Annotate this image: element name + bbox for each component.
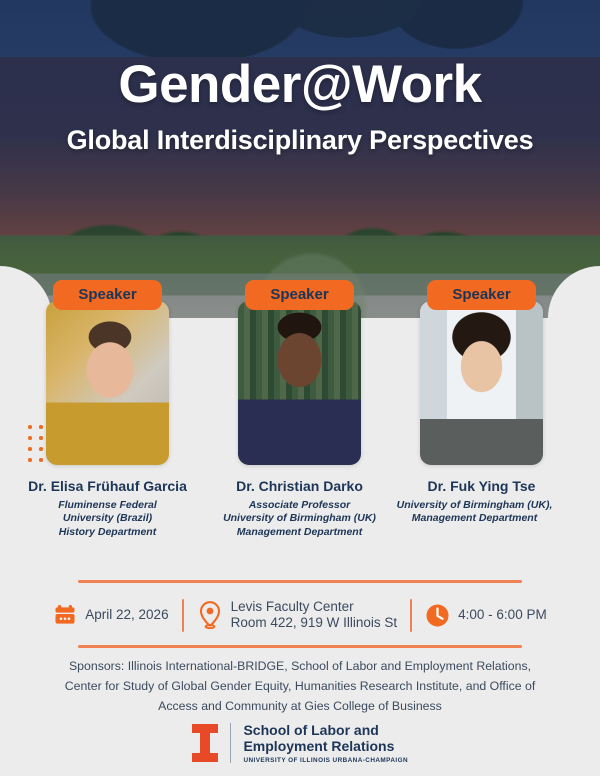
logo-line-1: School of Labor and — [243, 722, 408, 738]
speakers-section: Speaker Dr. Elisa Frühauf Garcia Flumine… — [0, 280, 600, 480]
clock-icon — [425, 603, 450, 628]
logo-line-3: UNIVERSITY OF ILLINOIS URBANA-CHAMPAIGN — [243, 757, 408, 764]
divider-rule-top — [78, 580, 522, 583]
calendar-icon — [53, 603, 77, 627]
page-subtitle: Global Interdisciplinary Perspectives — [0, 125, 600, 156]
speaker-card-2: Speaker Dr. Christian Darko Associate Pr… — [234, 280, 365, 539]
speaker-badge: Speaker — [427, 280, 536, 310]
logo-line-2: Employment Relations — [243, 738, 408, 754]
event-poster: Gender@Work Global Interdisciplinary Per… — [0, 0, 600, 776]
speaker-affiliation: Fluminense Federal University (Brazil) H… — [24, 499, 191, 539]
speaker-name: Dr. Christian Darko — [212, 478, 387, 494]
hero-banner: Gender@Work Global Interdisciplinary Per… — [0, 0, 600, 318]
event-time: 4:00 - 6:00 PM — [425, 603, 547, 628]
hero-overlay — [0, 0, 600, 318]
sponsors-text: Sponsors: Illinois International-BRIDGE,… — [50, 657, 550, 717]
event-details-bar: April 22, 2026 Levis Faculty Center Room… — [0, 592, 600, 638]
speaker-affiliation: University of Birmingham (UK), Managemen… — [372, 499, 577, 526]
speaker-photo — [238, 301, 361, 465]
event-location-text: Levis Faculty Center Room 422, 919 W Ill… — [231, 599, 398, 632]
details-separator-1 — [182, 599, 184, 632]
illinois-block-i-icon — [192, 724, 218, 762]
logo-divider — [230, 723, 232, 763]
location-pin-icon — [197, 600, 223, 630]
event-time-text: 4:00 - 6:00 PM — [458, 607, 547, 623]
page-title: Gender@Work — [0, 58, 600, 112]
speaker-badge: Speaker — [245, 280, 354, 310]
speaker-card-1: Speaker Dr. Elisa Frühauf Garcia Flumine… — [42, 280, 173, 539]
institution-logo: School of Labor and Employment Relations… — [0, 722, 600, 764]
speaker-photo — [420, 301, 543, 465]
event-date-text: April 22, 2026 — [85, 607, 168, 623]
speaker-name: Dr. Elisa Frühauf Garcia — [20, 478, 195, 494]
speaker-name: Dr. Fuk Ying Tse — [394, 478, 569, 494]
event-date: April 22, 2026 — [53, 603, 168, 627]
hero-text: Gender@Work Global Interdisciplinary Per… — [0, 58, 600, 156]
details-separator-2 — [410, 599, 412, 632]
logo-wordmark: School of Labor and Employment Relations… — [243, 722, 408, 764]
divider-rule-bottom — [78, 645, 522, 648]
speaker-photo — [46, 301, 169, 465]
speaker-card-3: Speaker Dr. Fuk Ying Tse University of B… — [416, 280, 547, 526]
event-location: Levis Faculty Center Room 422, 919 W Ill… — [197, 599, 398, 632]
speaker-badge: Speaker — [53, 280, 162, 310]
